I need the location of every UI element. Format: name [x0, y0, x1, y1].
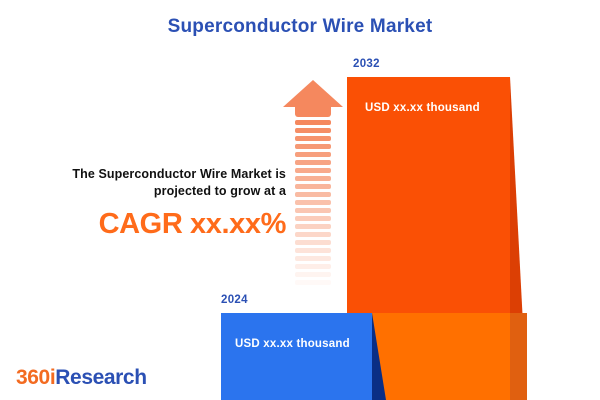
infographic-canvas: Superconductor Wire Market The Supercond… [0, 0, 600, 400]
bar-2024-value-label: USD xx.xx thousand [235, 338, 350, 350]
arrow-segment [295, 184, 331, 189]
arrow-segment [295, 144, 331, 149]
arrow-neck [295, 106, 331, 117]
arrow-segment [295, 216, 331, 221]
bar-2024-side-face [372, 313, 386, 400]
bar-2024-front-face [221, 313, 372, 400]
arrow-segment [295, 128, 331, 133]
arrow-segment [295, 120, 331, 125]
brand-logo: 360iResearch [16, 366, 147, 390]
arrow-segment [295, 264, 331, 269]
arrow-segment [295, 160, 331, 165]
bar-2032-value-label: USD xx.xx thousand [365, 102, 480, 114]
cagr-value: CAGR xx.xx% [18, 208, 286, 240]
arrow-head-icon [283, 80, 343, 107]
arrow-segment [295, 152, 331, 157]
caption-line-2: projected to grow at a [18, 183, 286, 200]
bar-2032-side-face-lower [510, 313, 527, 400]
bar-2024-year-label: 2024 [221, 294, 248, 306]
arrow-segment [295, 200, 331, 205]
caption-line-1: The Superconductor Wire Market is [18, 166, 286, 183]
upward-growth-arrow-icon [283, 80, 343, 295]
arrow-segment [295, 168, 331, 173]
arrow-segment [295, 192, 331, 197]
arrow-segment [295, 272, 331, 277]
arrow-segment [295, 240, 331, 245]
arrow-segment [295, 232, 331, 237]
arrow-segment [295, 208, 331, 213]
arrow-segment [295, 280, 331, 285]
brand-logo-word: Research [55, 366, 146, 389]
arrow-segment [295, 256, 331, 261]
bar-2032-year-label: 2032 [353, 58, 380, 70]
arrow-segment [295, 224, 331, 229]
arrow-segment [295, 248, 331, 253]
arrow-segment [295, 136, 331, 141]
arrow-segment [295, 288, 331, 293]
bar-2024: 2024 USD xx.xx thousand [221, 313, 386, 400]
caption-block: The Superconductor Wire Market is projec… [18, 166, 286, 240]
arrow-segment [295, 176, 331, 181]
brand-logo-mark: 360i [16, 366, 55, 389]
page-title: Superconductor Wire Market [0, 16, 600, 38]
